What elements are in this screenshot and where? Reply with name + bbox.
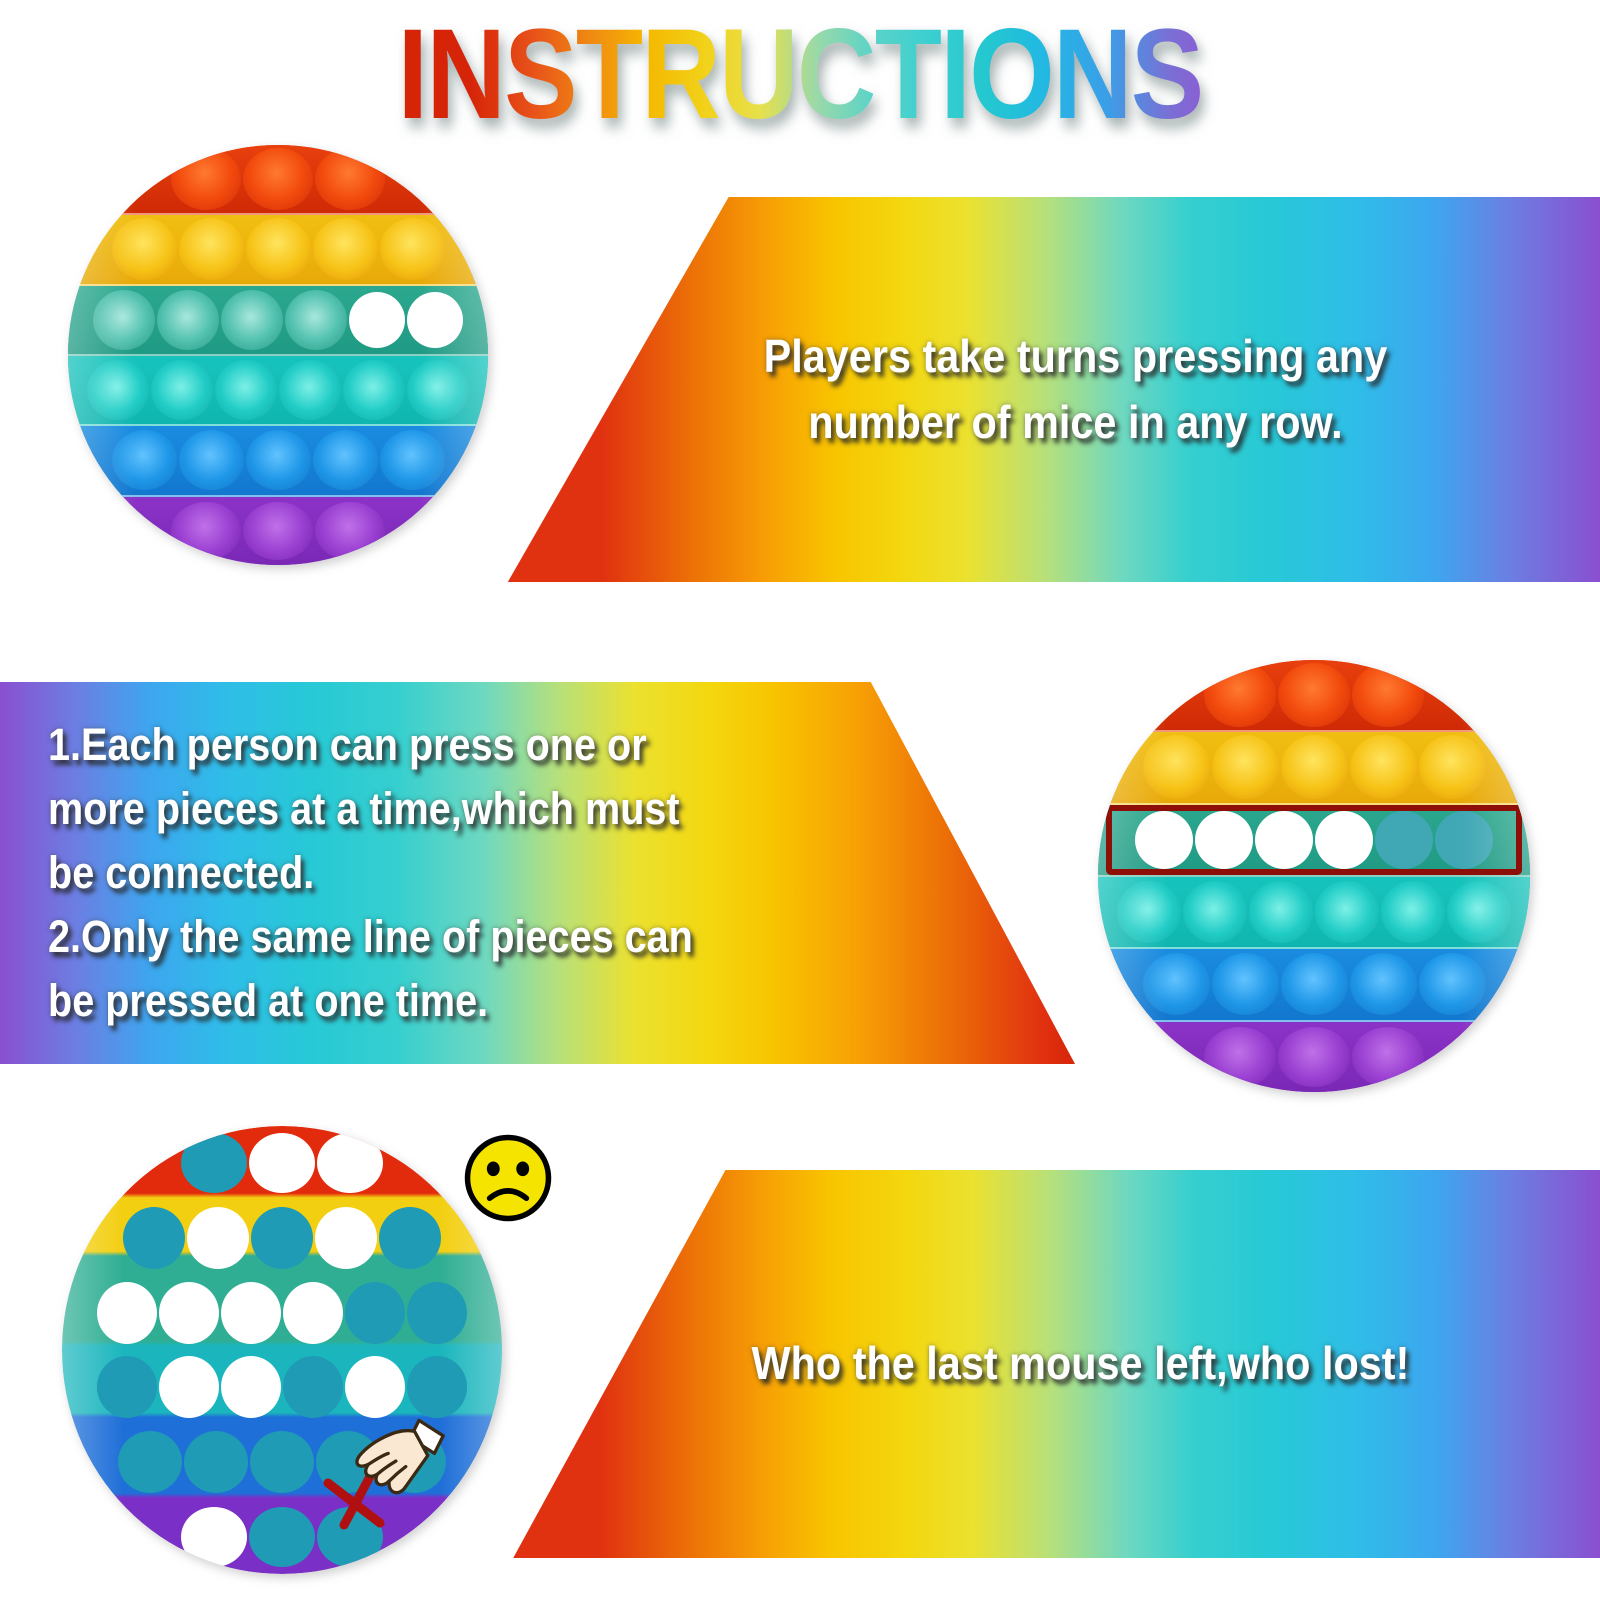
bubble-unpopped[interactable] [1419, 953, 1486, 1015]
bubble-unpopped[interactable] [112, 218, 177, 280]
bubble-unpopped[interactable] [151, 360, 213, 420]
bubble-unpopped[interactable] [171, 148, 241, 210]
bubble-pressed[interactable] [123, 1207, 185, 1269]
bubble-unpopped[interactable] [87, 360, 149, 420]
bubble-popped[interactable] [407, 292, 463, 348]
bubble-unpopped[interactable] [315, 148, 385, 210]
bubble-popped[interactable] [181, 1507, 247, 1567]
bubble-popped[interactable] [1315, 811, 1373, 869]
bubble-unpopped[interactable] [221, 290, 283, 350]
bubble-unpopped[interactable] [380, 430, 445, 490]
bubble-pressed[interactable] [345, 1282, 405, 1344]
sad-face-icon [462, 1132, 554, 1224]
bubble-unpopped[interactable] [1281, 735, 1348, 799]
bubble-unpopped[interactable] [1278, 663, 1350, 727]
popit-row-4[interactable] [68, 356, 488, 426]
bubble-unpopped[interactable] [246, 218, 311, 280]
bubble-pressed[interactable] [250, 1431, 314, 1493]
bubble-unpopped[interactable] [246, 430, 311, 490]
page-header: INSTRUCTIONS [0, 0, 1600, 150]
popit-toy-2[interactable] [1098, 660, 1530, 1092]
bubble-unpopped[interactable] [313, 430, 378, 490]
bubble-unpopped[interactable] [93, 290, 155, 350]
popit-row-5[interactable] [68, 426, 488, 496]
bubble-unpopped[interactable] [179, 430, 244, 490]
bubble-pressed[interactable] [283, 1356, 343, 1418]
bubble-unpopped[interactable] [1352, 1027, 1424, 1087]
bubble-pressed[interactable] [407, 1282, 467, 1344]
bubble-unpopped[interactable] [112, 430, 177, 490]
bubble-popped[interactable] [1135, 811, 1193, 869]
bubble-popped[interactable] [315, 1207, 377, 1269]
popit-row-4[interactable] [1098, 877, 1530, 949]
bubble-popped[interactable] [349, 292, 405, 348]
bubble-pressed[interactable] [1435, 811, 1493, 869]
popit-toy-1[interactable] [68, 145, 488, 565]
instruction-text-1: Players take turns pressing any number o… [763, 324, 1387, 455]
instruction-text-2: 1.Each person can press one or more piec… [48, 713, 693, 1032]
bubble-unpopped[interactable] [243, 148, 313, 210]
bubble-pressed[interactable] [1375, 811, 1433, 869]
bubble-unpopped[interactable] [1204, 663, 1276, 727]
bubble-unpopped[interactable] [279, 360, 341, 420]
popit-toy-3[interactable] [62, 1126, 502, 1574]
bubble-pressed[interactable] [379, 1207, 441, 1269]
bubble-pressed[interactable] [184, 1431, 248, 1493]
bubble-unpopped[interactable] [243, 502, 313, 560]
bubble-unpopped[interactable] [1350, 953, 1417, 1015]
bubble-pressed[interactable] [251, 1207, 313, 1269]
popit-row-2[interactable] [1098, 732, 1530, 804]
instruction-text-3: Who the last mouse left,who lost! [751, 1331, 1409, 1396]
bubble-pressed[interactable] [97, 1356, 157, 1418]
bubble-unpopped[interactable] [1183, 881, 1247, 943]
bubble-popped[interactable] [159, 1356, 219, 1418]
bubble-unpopped[interactable] [1315, 881, 1379, 943]
popit-row-1[interactable] [1098, 660, 1530, 732]
bubble-popped[interactable] [1255, 811, 1313, 869]
bubble-unpopped[interactable] [313, 218, 378, 280]
popit-row-2[interactable] [62, 1201, 502, 1276]
bubble-last-pressed[interactable] [382, 1431, 446, 1493]
bubble-pressed[interactable] [118, 1431, 182, 1493]
bubble-popped[interactable] [249, 1133, 315, 1193]
bubble-popped[interactable] [1195, 811, 1253, 869]
bubble-unpopped[interactable] [1352, 663, 1424, 727]
bubble-popped[interactable] [159, 1282, 219, 1344]
bubble-unpopped[interactable] [1143, 953, 1210, 1015]
bubble-pressed[interactable] [181, 1133, 247, 1193]
popit-row-1[interactable] [62, 1126, 502, 1201]
instruction-banner-1: Players take turns pressing any number o… [490, 197, 1600, 582]
bubble-unpopped[interactable] [407, 360, 469, 420]
bubble-unpopped[interactable] [1204, 1027, 1276, 1087]
bubble-unpopped[interactable] [157, 290, 219, 350]
bubble-unpopped[interactable] [285, 290, 347, 350]
bubble-popped[interactable] [187, 1207, 249, 1269]
bubble-popped[interactable] [97, 1282, 157, 1344]
bubble-unpopped[interactable] [1249, 881, 1313, 943]
bubble-unpopped[interactable] [1212, 735, 1279, 799]
bubble-unpopped[interactable] [1143, 735, 1210, 799]
bubble-unpopped[interactable] [343, 360, 405, 420]
bubble-unpopped[interactable] [315, 502, 385, 560]
bubble-pressed[interactable] [249, 1507, 315, 1567]
popit-row-3[interactable] [1098, 805, 1530, 877]
bubble-popped[interactable] [221, 1282, 281, 1344]
popit-row-6[interactable] [1098, 1022, 1530, 1092]
bubble-unpopped[interactable] [215, 360, 277, 420]
bubble-unpopped[interactable] [1117, 881, 1181, 943]
popit-row-1[interactable] [68, 145, 488, 215]
popit-row-2[interactable] [68, 215, 488, 285]
bubble-unpopped[interactable] [1419, 735, 1486, 799]
popit-row-5[interactable] [1098, 949, 1530, 1021]
instruction-banner-2: 1.Each person can press one or more piec… [0, 682, 1075, 1064]
bubble-unpopped[interactable] [1212, 953, 1279, 1015]
bubble-popped[interactable] [221, 1356, 281, 1418]
hand-pointer-icon [342, 1405, 452, 1515]
bubble-popped[interactable] [283, 1282, 343, 1344]
bubble-unpopped[interactable] [1447, 881, 1511, 943]
bubble-popped[interactable] [317, 1133, 383, 1193]
page-title: INSTRUCTIONS [398, 11, 1203, 139]
popit-row-3[interactable] [68, 286, 488, 356]
popit-row-6[interactable] [68, 497, 488, 565]
bubble-unpopped[interactable] [1381, 881, 1445, 943]
bubble-unpopped[interactable] [171, 502, 241, 560]
bubble-unpopped[interactable] [1281, 953, 1348, 1015]
bubble-unpopped[interactable] [1278, 1027, 1350, 1087]
bubble-unpopped[interactable] [179, 218, 244, 280]
popit-row-3[interactable] [62, 1275, 502, 1350]
instruction-banner-3: Who the last mouse left,who lost! [500, 1170, 1600, 1558]
bubble-unpopped[interactable] [380, 218, 445, 280]
popit-row-5[interactable] [62, 1425, 502, 1500]
bubble-unpopped[interactable] [1350, 735, 1417, 799]
